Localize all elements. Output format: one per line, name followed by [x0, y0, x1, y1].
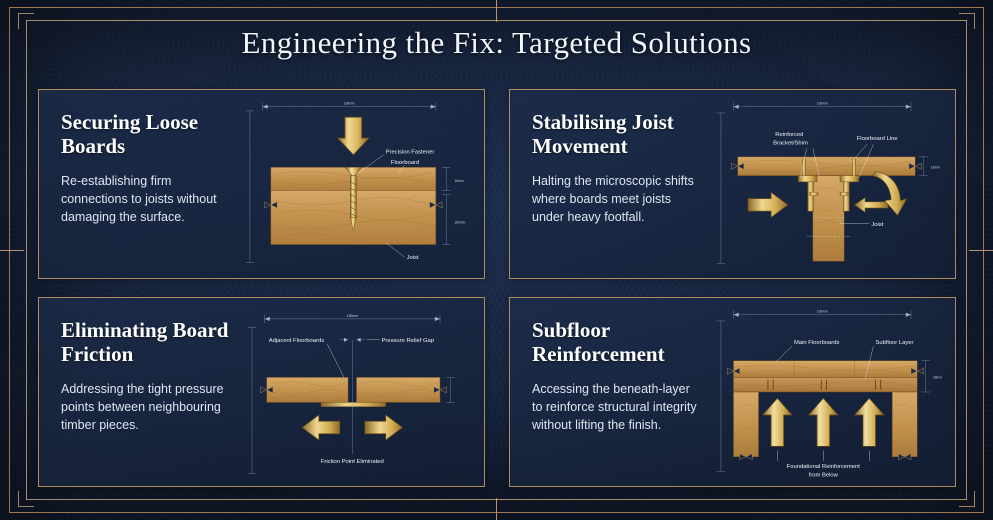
figure-label-subfloor-layer: Subfloor Layer — [875, 340, 913, 346]
figure-label-joist: Joist — [871, 222, 883, 228]
dimension-label-width: 100mm — [347, 314, 358, 318]
figure-screw-through-floorboard-into-joist: 100mm — [235, 90, 484, 278]
dimension-label-width: 100mm — [817, 310, 828, 314]
up-arrow-icon — [763, 398, 884, 446]
figure-label-floorboard: Floorboard — [391, 160, 419, 166]
corner-ornament-bottom-right — [959, 491, 975, 507]
card-body: Accessing the beneath-layer to reinforce… — [532, 380, 700, 434]
card-text-block: Eliminating Board Friction Addressing th… — [39, 298, 235, 486]
card-text-block: Subfloor Reinforcement Accessing the ben… — [510, 298, 706, 486]
card-text-block: Stabilising Joist Movement Halting the m… — [510, 90, 706, 278]
card-heading: Subfloor Reinforcement — [532, 318, 700, 367]
right-arrow-icon — [748, 192, 788, 217]
card-text-block: Securing Loose Boards Re-establishing fi… — [39, 90, 235, 278]
figure-label-fastener: Precision Fastener — [386, 150, 435, 156]
figure-label-foundational-line2: from Below — [809, 473, 839, 479]
dimension-label-width: 100mm — [344, 102, 355, 106]
figure-label-joist: Joist — [406, 255, 418, 261]
dimension-label-board-thickness: 18mm — [931, 165, 940, 169]
figure-label-bracket-line1: Reinforced — [775, 132, 803, 138]
dimension-label-width: 100mm — [817, 102, 828, 106]
figure-label-pressure-relief-gap: Pressure Relief Gap — [381, 338, 433, 344]
corner-ornament-bottom-left — [18, 491, 34, 507]
left-arrow-icon — [854, 198, 887, 213]
down-arrow-icon — [337, 117, 368, 155]
card-eliminating-board-friction[interactable]: Eliminating Board Friction Addressing th… — [38, 297, 485, 487]
card-body: Addressing the tight pressure points bet… — [61, 380, 229, 434]
figure-label-foundational-line1: Foundational Reinforcement — [786, 464, 860, 470]
card-stabilising-joist-movement[interactable]: Stabilising Joist Movement Halting the m… — [509, 89, 956, 279]
frame-tick-right — [969, 250, 993, 251]
card-subfloor-reinforcement[interactable]: Subfloor Reinforcement Accessing the ben… — [509, 297, 956, 487]
card-heading: Stabilising Joist Movement — [532, 110, 700, 159]
figure-joist-bracket-shim-assembly: 100mm — [706, 90, 955, 278]
card-securing-loose-boards[interactable]: Securing Loose Boards Re-establishing fi… — [38, 89, 485, 279]
card-heading: Eliminating Board Friction — [61, 318, 229, 367]
dimension-label-board-thickness: 18mm — [454, 179, 463, 183]
card-body: Re-establishing firm connections to jois… — [61, 172, 229, 226]
figure-label-adjacent-floorboards: Adjacent Floorboards — [269, 338, 324, 344]
left-arrow-icon — [302, 415, 340, 440]
figure-label-friction-eliminated: Friction Point Eliminated — [321, 459, 384, 465]
curved-arrow-icon — [872, 171, 906, 215]
frame-tick-bottom — [496, 498, 497, 520]
figure-label-main-floorboards: Main Floorboards — [794, 340, 839, 346]
card-heading: Securing Loose Boards — [61, 110, 229, 159]
frame-tick-top — [496, 0, 497, 22]
card-body: Halting the microscopic shifts where boa… — [532, 172, 700, 226]
right-arrow-icon — [365, 415, 403, 440]
figure-label-floorboard-line: Floorboard Line — [857, 136, 898, 142]
figure-label-bracket-line2: Bracket/Shim — [773, 140, 808, 146]
figure-pressure-relief-gap: 100mm — [235, 298, 484, 486]
dimension-label-joist-depth: 200mm — [454, 221, 465, 225]
frame-tick-left — [0, 250, 24, 251]
solutions-card-grid: Securing Loose Boards Re-establishing fi… — [38, 89, 956, 487]
figure-subfloor-support-from-below: 100mm — [706, 298, 955, 486]
page-title: Engineering the Fix: Targeted Solutions — [0, 25, 993, 61]
dimension-label-assembly-thickness: 18mm — [933, 375, 942, 379]
